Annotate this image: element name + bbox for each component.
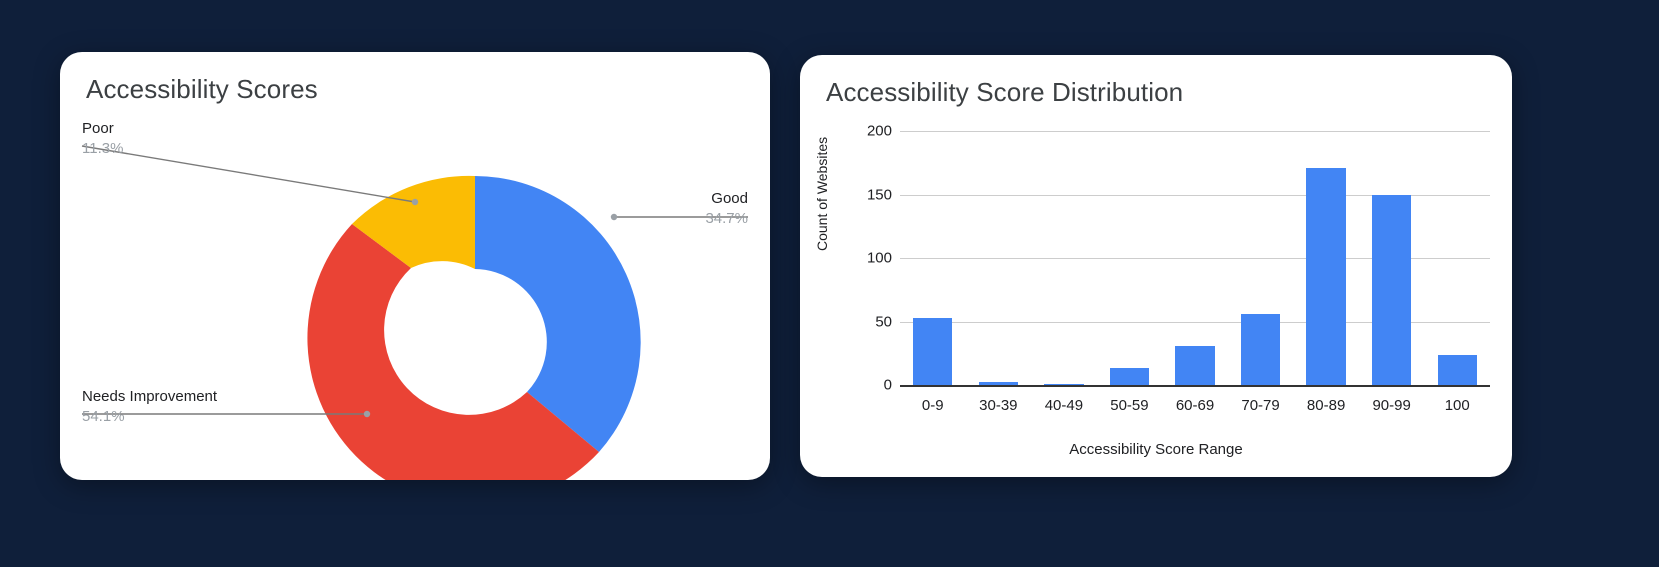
- donut-label-poor-percent: 11.3%: [82, 140, 123, 157]
- bar-chart-x-tick: 50-59: [1110, 397, 1148, 414]
- donut-label-needs-improvement-name: Needs Improvement: [82, 388, 217, 405]
- bar-chart-x-tick: 90-99: [1372, 397, 1410, 414]
- bar-chart-bar[interactable]: [1372, 195, 1411, 386]
- bar-chart-x-axis-title: Accessibility Score Range: [800, 441, 1512, 458]
- bar-chart-bar[interactable]: [1306, 168, 1345, 385]
- bar-chart-x-tick: 30-39: [979, 397, 1017, 414]
- bar-chart-bar[interactable]: [913, 318, 952, 385]
- donut-label-good-percent: 34.7%: [705, 210, 748, 227]
- donut-label-needs-improvement-percent: 54.1%: [82, 408, 217, 425]
- bar-chart-x-tick: 0-9: [922, 397, 944, 414]
- bar-chart-gridline: [900, 131, 1490, 132]
- bar-chart-x-tick: 80-89: [1307, 397, 1345, 414]
- bar-chart-bar[interactable]: [1438, 355, 1477, 385]
- bar-chart-bar[interactable]: [1110, 368, 1149, 385]
- bar-chart-x-tick: 70-79: [1241, 397, 1279, 414]
- donut-label-good: Good 34.7%: [705, 190, 748, 227]
- donut-label-good-name: Good: [711, 190, 748, 207]
- bar-chart-bar[interactable]: [1241, 314, 1280, 385]
- bar-chart-bar[interactable]: [1044, 384, 1083, 386]
- bar-chart-y-tick: 100: [828, 250, 892, 267]
- bar-chart-axis-line: [900, 385, 1490, 387]
- bar-chart-y-tick: 150: [828, 186, 892, 203]
- bar-chart-y-tick: 50: [828, 313, 892, 330]
- bar-chart: Count of Websites 050100150200 0-930-394…: [800, 55, 1512, 477]
- bar-chart-bar[interactable]: [979, 382, 1018, 385]
- bar-chart-x-tick: 100: [1445, 397, 1470, 414]
- bar-chart-x-tick: 60-69: [1176, 397, 1214, 414]
- bar-chart-y-tick: 0: [828, 377, 892, 394]
- donut-label-needs-improvement: Needs Improvement 54.1%: [82, 388, 217, 425]
- bar-chart-y-tick: 200: [828, 123, 892, 140]
- donut-label-poor-name: Poor: [82, 120, 114, 137]
- dashboard-canvas: Accessibility Scores: [0, 0, 1659, 567]
- bar-chart-x-tick: 40-49: [1045, 397, 1083, 414]
- accessibility-distribution-card: Accessibility Score Distribution Count o…: [800, 55, 1512, 477]
- donut-chart: Poor 11.3% Needs Improvement 54.1% Good …: [60, 52, 770, 480]
- accessibility-scores-card: Accessibility Scores: [60, 52, 770, 480]
- donut-label-poor: Poor 11.3%: [82, 120, 123, 157]
- bar-chart-bar[interactable]: [1175, 346, 1214, 385]
